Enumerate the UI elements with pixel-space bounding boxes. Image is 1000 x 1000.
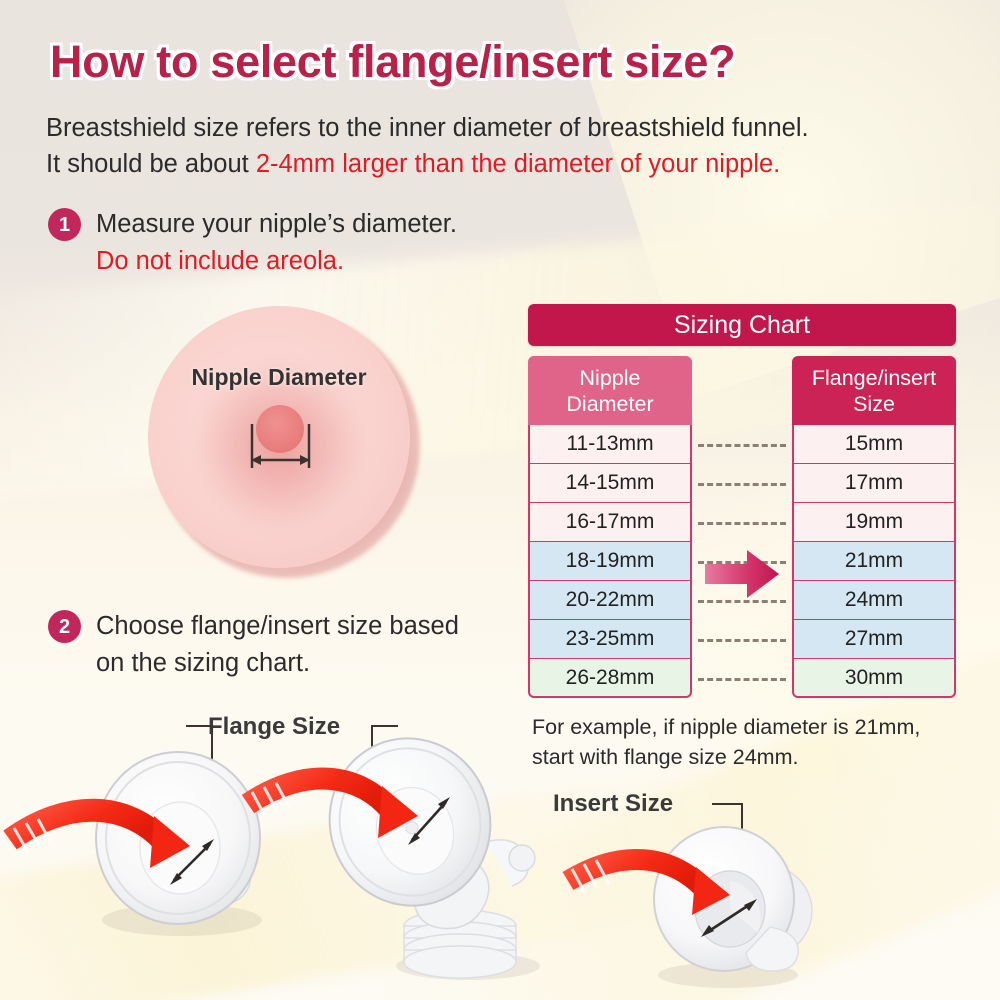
subtitle-line-2-plain: It should be about: [46, 150, 256, 178]
step-2-badge: 2: [48, 610, 81, 643]
table-row: 16-17mm: [528, 503, 692, 542]
table-row: 26-28mm: [528, 659, 692, 698]
flange-size-header: Flange/insert Size: [792, 356, 956, 425]
table-row: 11-13mm: [528, 425, 692, 464]
step-2: 2 Choose flange/insert size based on the…: [48, 608, 459, 682]
sizing-chart: Sizing Chart Nipple Diameter 11-13mm 14-…: [528, 304, 956, 704]
table-row: 27mm: [792, 620, 956, 659]
cell-flange-size: 19mm: [845, 510, 903, 534]
table-row: 15mm: [792, 425, 956, 464]
table-row: 21mm: [792, 542, 956, 581]
nipple-measure-arrow-icon: [148, 306, 410, 568]
table-row: 23-25mm: [528, 620, 692, 659]
nipple-diameter-header-line-1: Nipple: [528, 365, 692, 391]
table-row: 17mm: [792, 464, 956, 503]
table-row: 24mm: [792, 581, 956, 620]
connector-dash: [698, 639, 786, 642]
step-1-warning: Do not include areola.: [96, 243, 457, 280]
cell-flange-size: 15mm: [845, 432, 903, 456]
step-2-text-line-1: Choose flange/insert size based: [96, 612, 459, 640]
subtitle-line-2-emphasis: 2-4mm larger than the diameter of your n…: [256, 150, 780, 178]
table-row: 18-19mm: [528, 542, 692, 581]
nipple-diameter-header-line-2: Diameter: [528, 391, 692, 417]
cell-flange-size: 21mm: [845, 549, 903, 573]
cell-flange-size: 24mm: [845, 588, 903, 612]
table-row: 14-15mm: [528, 464, 692, 503]
flange-size-header-line-2: Size: [792, 391, 956, 417]
connector-dash: [698, 483, 786, 486]
chart-connector: [692, 425, 792, 704]
cell-nipple-diameter: 23-25mm: [566, 627, 655, 651]
cell-flange-size: 27mm: [845, 627, 903, 651]
page-subtitle: Breastshield size refers to the inner di…: [46, 110, 809, 182]
insert-product-illustration: [620, 815, 870, 990]
step-1: 1 Measure your nipple’s diameter. Do not…: [48, 206, 457, 280]
cell-nipple-diameter: 14-15mm: [566, 471, 655, 495]
flange-product-illustration-right: [290, 730, 590, 990]
table-row: 30mm: [792, 659, 956, 698]
sizing-chart-banner: Sizing Chart: [528, 304, 956, 346]
infographic-page: How to select flange/insert size? Breast…: [0, 0, 1000, 1000]
subtitle-line-1: Breastshield size refers to the inner di…: [46, 110, 809, 146]
table-row: 19mm: [792, 503, 956, 542]
step-1-text: Measure your nipple’s diameter.: [96, 210, 457, 238]
cell-nipple-diameter: 16-17mm: [566, 510, 655, 534]
connector-dash: [698, 522, 786, 525]
nipple-diameter-header: Nipple Diameter: [528, 356, 692, 425]
step-1-text-block: Measure your nipple’s diameter. Do not i…: [96, 206, 457, 280]
table-row: 20-22mm: [528, 581, 692, 620]
cell-flange-size: 17mm: [845, 471, 903, 495]
cell-nipple-diameter: 26-28mm: [566, 666, 655, 690]
page-title: How to select flange/insert size?: [50, 36, 735, 88]
cell-nipple-diameter: 11-13mm: [566, 432, 653, 456]
connector-dash: [698, 444, 786, 447]
connector-dash: [698, 600, 786, 603]
cell-nipple-diameter: 18-19mm: [566, 549, 655, 573]
flange-size-column: Flange/insert Size 15mm 17mm 19mm 21mm 2…: [792, 356, 956, 698]
cell-nipple-diameter: 20-22mm: [566, 588, 655, 612]
chart-direction-arrow-icon: [705, 550, 779, 598]
flange-product-illustration-left: [58, 740, 328, 955]
flange-size-header-line-1: Flange/insert: [792, 365, 956, 391]
cell-flange-size: 30mm: [845, 666, 903, 690]
connector-dash: [698, 678, 786, 681]
nipple-diameter-illustration: Nipple Diameter: [148, 306, 420, 578]
sizing-chart-columns: Nipple Diameter 11-13mm 14-15mm 16-17mm …: [528, 356, 956, 704]
subtitle-line-2: It should be about 2-4mm larger than the…: [46, 146, 809, 182]
step-2-text-line-2: on the sizing chart.: [96, 645, 459, 682]
step-1-badge: 1: [48, 208, 81, 241]
step-2-text-block: Choose flange/insert size based on the s…: [96, 608, 459, 682]
nipple-diameter-column: Nipple Diameter 11-13mm 14-15mm 16-17mm …: [528, 356, 692, 698]
